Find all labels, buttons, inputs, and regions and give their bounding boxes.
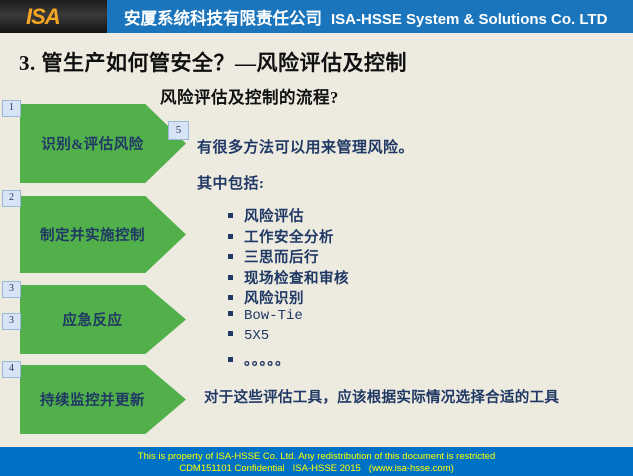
page-title: 3. 管生产如何管安全？—风险评估及控制 [19,47,407,77]
methods-list: 风险评估 工作安全分析 三思而后行 现场检查和审核 风险识别 Bow-Tie 5… [228,205,349,369]
footer-website: (www.isa-hsse.com) [369,463,454,474]
bullet-square-icon [228,254,233,259]
annotation-badge-1[interactable]: 1 [2,100,21,117]
list-item: 工作安全分析 [228,226,349,247]
header-company-name: 安厦系统科技有限责任公司ISA-HSSE System & Solutions … [124,5,607,29]
footer-doc-id: CDM151101 Confidential [179,463,284,474]
process-step-2-label: 制定并实施控制 [20,224,165,245]
list-item-label: 风险评估 [244,205,304,226]
footer-meta: CDM151101 ConfidentialISA-HSSE 2015(www.… [0,463,633,474]
annotation-badge-5[interactable]: 5 [168,121,189,140]
company-name-en: ISA-HSSE System & Solutions Co. LTD [331,11,607,28]
process-step-2: 制定并实施控制 [20,196,186,273]
list-item: 。。。。。 [228,349,349,370]
content-closing: 对于这些评估工具，应该根据实际情况选择合适的工具 [204,388,622,409]
process-step-3-label: 应急反应 [20,309,165,330]
list-item-label: 。。。。。 [244,349,290,370]
bullet-square-icon [228,311,233,316]
list-item-label: 工作安全分析 [244,226,334,247]
annotation-badge-2[interactable]: 2 [2,190,21,207]
list-item: 三思而后行 [228,246,349,267]
process-step-1: 识别&评估风险 [20,104,186,183]
isa-logo: ISA [26,4,60,30]
list-item: 5X5 [228,328,349,349]
list-item-label: 5X5 [244,328,269,344]
annotation-badge-4[interactable]: 4 [2,361,21,378]
process-step-1-label: 识别&评估风险 [20,133,165,154]
list-item-label: 三思而后行 [244,246,319,267]
list-item-label: Bow-Tie [244,308,303,324]
list-item-label: 风险识别 [244,287,304,308]
annotation-badge-3b[interactable]: 3 [2,313,21,330]
list-item: 风险评估 [228,205,349,226]
bullet-square-icon [228,213,233,218]
annotation-badge-3a[interactable]: 3 [2,281,21,298]
bullet-square-icon [228,357,233,362]
list-item-label: 现场检查和审核 [244,267,349,288]
header-bar: ISA 安厦系统科技有限责任公司ISA-HSSE System & Soluti… [0,0,633,33]
content-intro: 有很多方法可以用来管理风险。 [197,136,414,157]
logo-backdrop: ISA [0,0,107,33]
footer-org-year: ISA-HSSE 2015 [293,463,361,474]
footer-bar: This is property of ISA-HSSE Co. Ltd. An… [0,447,633,476]
company-name-cn: 安厦系统科技有限责任公司 [124,10,322,28]
bullet-square-icon [228,295,233,300]
bullet-square-icon [228,275,233,280]
slide-canvas: ISA 安厦系统科技有限责任公司ISA-HSSE System & Soluti… [0,0,633,476]
list-item: Bow-Tie [228,308,349,329]
list-item: 现场检查和审核 [228,267,349,288]
process-step-4: 持续监控并更新 [20,365,186,434]
list-item: 风险识别 [228,287,349,308]
bullet-square-icon [228,234,233,239]
process-step-4-label: 持续监控并更新 [20,389,165,410]
bullet-square-icon [228,331,233,336]
page-subtitle: 风险评估及控制的流程? [160,84,339,108]
footer-copyright: This is property of ISA-HSSE Co. Ltd. An… [0,451,633,462]
process-step-3: 应急反应 [20,285,186,354]
content-includes-label: 其中包括: [197,172,265,193]
